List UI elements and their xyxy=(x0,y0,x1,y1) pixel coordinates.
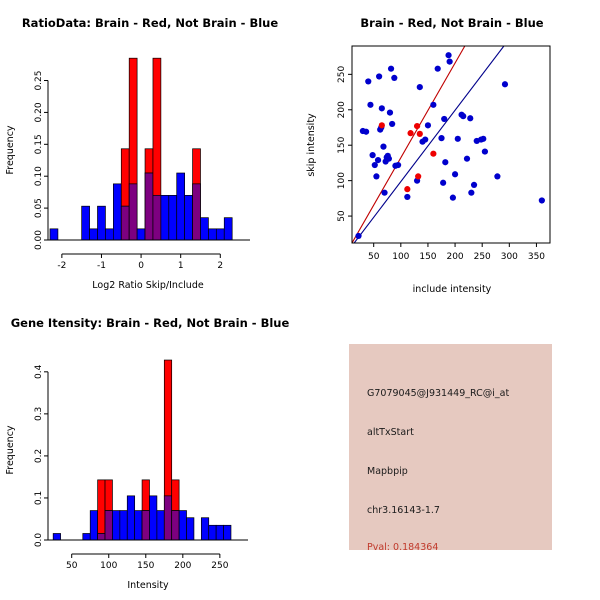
histogram-bar-blue xyxy=(105,229,113,240)
y-axis-tick-label: 0.2 xyxy=(34,449,44,463)
scatter-point-blue xyxy=(502,81,508,87)
histogram-bar-overlap xyxy=(121,206,129,240)
gene-intensity-histogram-svg: Gene Itensity: Brain - Red, Not Brain - … xyxy=(0,300,300,600)
scatter-point-blue xyxy=(404,194,410,200)
histogram-bar-blue xyxy=(209,525,216,540)
histogram-bar-blue xyxy=(224,525,231,540)
histogram-bar-overlap xyxy=(164,496,171,540)
x-axis-tick-label: 250 xyxy=(474,252,491,262)
scatter-point-blue xyxy=(460,113,466,119)
scatter-point-red xyxy=(414,123,420,129)
x-axis-tick-label: -1 xyxy=(97,261,106,271)
scatter-point-blue xyxy=(467,115,473,121)
histogram-bar-red xyxy=(105,480,112,511)
ratio-histogram-title: RatioData: Brain - Red, Not Brain - Blue xyxy=(22,16,279,30)
gene-intensity-histogram-panel: Gene Itensity: Brain - Red, Not Brain - … xyxy=(0,300,300,600)
histogram-bar-red xyxy=(172,480,179,511)
intensity-scatter-ylabel: skip intensity xyxy=(306,113,317,177)
y-axis-tick-label: 0.25 xyxy=(34,70,44,90)
scatter-point-blue xyxy=(376,73,382,79)
scatter-point-blue xyxy=(370,152,376,158)
scatter-point-blue xyxy=(435,66,441,72)
scatter-point-blue xyxy=(464,156,470,162)
y-axis-tick-label: 50 xyxy=(337,210,347,222)
gene-intensity-histogram-bars xyxy=(53,360,231,540)
y-axis-tick-label: 0.05 xyxy=(34,198,44,218)
intensity-scatter-panel: Brain - Red, Not Brain - Blue include in… xyxy=(300,0,600,300)
intensity-scatter-plot-area xyxy=(352,46,545,243)
scatter-point-blue xyxy=(440,180,446,186)
x-axis-tick-label: 150 xyxy=(137,561,154,571)
histogram-bar-blue xyxy=(53,533,60,540)
x-axis-tick-label: 200 xyxy=(174,561,191,571)
histogram-bar-overlap xyxy=(145,173,153,240)
scatter-point-blue xyxy=(425,122,431,128)
ratio-histogram-ylabel: Frequency xyxy=(5,125,16,174)
scatter-point-blue xyxy=(391,75,397,81)
histogram-bar-blue xyxy=(127,496,134,540)
histogram-bar-blue xyxy=(161,195,169,240)
y-axis-tick-label: 0.00 xyxy=(34,230,44,250)
scatter-point-blue xyxy=(375,157,381,163)
pvalue-text: Pval: 0.184364 xyxy=(367,542,438,553)
scatter-point-blue xyxy=(379,105,385,111)
histogram-bar-blue xyxy=(177,173,185,240)
scatter-point-blue xyxy=(468,190,474,196)
histogram-bar-overlap xyxy=(142,511,149,540)
histogram-bar-blue xyxy=(112,511,119,540)
x-axis-tick-label: 150 xyxy=(419,252,436,262)
histogram-bar-red xyxy=(193,149,201,184)
regression-line-brain-fit xyxy=(352,46,465,243)
scatter-point-blue xyxy=(482,148,488,154)
histogram-bar-red xyxy=(121,149,129,206)
histogram-bar-blue xyxy=(50,229,58,240)
y-axis-tick-label: 250 xyxy=(337,65,347,82)
gene-symbol-text: Mapbpip xyxy=(367,466,408,477)
y-axis-tick-label: 0.15 xyxy=(34,134,44,154)
histogram-bar-blue xyxy=(149,496,156,540)
scatter-point-blue xyxy=(452,171,458,177)
scatter-point-blue xyxy=(373,173,379,179)
histogram-bar-blue xyxy=(90,229,98,240)
scatter-point-blue xyxy=(450,195,456,201)
scatter-point-red xyxy=(379,122,385,128)
y-axis-tick-label: 150 xyxy=(337,136,347,153)
scatter-point-blue xyxy=(365,78,371,84)
scatter-point-red xyxy=(407,130,413,136)
histogram-bar-blue xyxy=(179,511,186,540)
gene-intensity-histogram-title: Gene Itensity: Brain - Red, Not Brain - … xyxy=(11,316,290,330)
intensity-scatter-xlabel: include intensity xyxy=(413,284,492,295)
histogram-bar-overlap xyxy=(193,184,201,240)
scatter-point-red xyxy=(430,151,436,157)
gene-intensity-histogram-ylabel: Frequency xyxy=(5,425,16,474)
histogram-bar-blue xyxy=(135,511,142,540)
scatter-point-blue xyxy=(386,156,392,162)
histogram-bar-overlap xyxy=(153,195,161,240)
scatter-point-blue xyxy=(387,110,393,116)
gene-intensity-histogram-xlabel: Intensity xyxy=(127,580,169,591)
histogram-bar-blue xyxy=(224,218,232,240)
histogram-bar-red xyxy=(98,480,105,534)
scatter-point-red xyxy=(415,173,421,179)
ratio-histogram-bars xyxy=(50,58,232,240)
scatter-point-blue xyxy=(422,136,428,142)
ratio-histogram-xlabel: Log2 Ratio Skip/Include xyxy=(92,280,204,291)
y-axis-tick-label: 0.20 xyxy=(34,102,44,122)
gene-info-card: G7079045@J931449_RC@i_at altTxStart Mapb… xyxy=(349,344,552,550)
gene-info-panel: G7079045@J931449_RC@i_at altTxStart Mapb… xyxy=(300,300,600,600)
scatter-point-blue xyxy=(480,136,486,142)
scatter-point-blue xyxy=(395,162,401,168)
scatter-point-blue xyxy=(389,121,395,127)
histogram-bar-overlap xyxy=(129,184,137,240)
scatter-point-blue xyxy=(438,135,444,141)
scatter-point-blue xyxy=(441,116,447,122)
x-axis-tick-label: 300 xyxy=(501,252,518,262)
scatter-point-blue xyxy=(417,84,423,90)
scatter-point-blue xyxy=(442,159,448,165)
x-axis-tick-label: 50 xyxy=(66,561,78,571)
x-axis-tick-label: 100 xyxy=(392,252,409,262)
x-axis-tick-label: -2 xyxy=(57,261,66,271)
x-axis-tick-label: 200 xyxy=(446,252,463,262)
histogram-bar-blue xyxy=(201,518,208,540)
y-axis-tick-label: 0.0 xyxy=(34,533,44,548)
histogram-bar-blue xyxy=(187,518,194,540)
ratio-histogram-panel: RatioData: Brain - Red, Not Brain - Blue… xyxy=(0,0,300,300)
scatter-inner xyxy=(352,46,545,243)
x-axis-tick-label: 250 xyxy=(211,561,228,571)
histogram-bar-blue xyxy=(98,206,106,240)
histogram-bar-blue xyxy=(208,229,216,240)
histogram-bar-blue xyxy=(83,533,90,540)
histogram-bar-overlap xyxy=(172,511,179,540)
ratio-histogram-svg: RatioData: Brain - Red, Not Brain - Blue… xyxy=(0,0,300,300)
histogram-bar-blue xyxy=(169,195,177,240)
histogram-bar-red xyxy=(153,58,161,195)
histogram-bar-blue xyxy=(185,195,193,240)
scatter-point-blue xyxy=(367,102,373,108)
histogram-bar-blue xyxy=(113,184,121,240)
scatter-point-blue xyxy=(455,136,461,142)
y-axis-tick-label: 100 xyxy=(337,172,347,189)
scatter-point-blue xyxy=(445,52,451,58)
scatter-point-blue xyxy=(539,197,545,203)
scatter-point-blue xyxy=(471,182,477,188)
scatter-point-blue xyxy=(430,102,436,108)
scatter-point-blue xyxy=(388,66,394,72)
histogram-bar-blue xyxy=(157,511,164,540)
histogram-bar-blue xyxy=(120,511,127,540)
histogram-bar-blue xyxy=(82,206,90,240)
histogram-bar-red xyxy=(142,480,149,511)
scatter-point-red xyxy=(404,186,410,192)
histogram-bar-overlap xyxy=(98,533,105,540)
locus-text: chr3.16143-1.7 xyxy=(367,505,440,516)
y-axis-tick-label: 0.1 xyxy=(34,491,44,505)
y-axis-tick-label: 0.4 xyxy=(34,364,44,379)
histogram-bar-overlap xyxy=(105,511,112,540)
intensity-scatter-title: Brain - Red, Not Brain - Blue xyxy=(360,16,543,30)
x-axis-tick-label: 50 xyxy=(368,252,380,262)
histogram-bar-blue xyxy=(216,229,224,240)
probe-id-text: G7079045@J931449_RC@i_at xyxy=(367,388,509,399)
event-type-text: altTxStart xyxy=(367,427,414,438)
histogram-bar-red xyxy=(164,360,171,496)
histogram-bar-blue xyxy=(216,525,223,540)
x-axis-tick-label: 0 xyxy=(138,261,144,271)
x-axis-tick-label: 350 xyxy=(528,252,545,262)
scatter-point-blue xyxy=(494,173,500,179)
gene-intensity-histogram-axes: 0.00.10.20.30.450100150200250 xyxy=(34,364,248,571)
scatter-point-blue xyxy=(355,233,361,239)
histogram-bar-blue xyxy=(137,229,145,240)
scatter-point-blue xyxy=(447,58,453,64)
x-axis-tick-label: 100 xyxy=(100,561,117,571)
histogram-bar-red xyxy=(129,58,137,184)
histogram-bar-red xyxy=(145,149,153,173)
scatter-point-red xyxy=(417,131,423,137)
x-axis-tick-label: 2 xyxy=(217,261,223,271)
intensity-scatter-axes: 5010015020025050100150200250300350 xyxy=(337,46,550,262)
y-axis-tick-label: 0.3 xyxy=(34,407,44,421)
scatter-point-blue xyxy=(381,190,387,196)
histogram-bar-blue xyxy=(200,218,208,240)
ratio-histogram-axes: 0.000.050.100.150.200.25-2-1012 xyxy=(34,70,250,271)
histogram-bar-blue xyxy=(90,511,97,540)
scatter-point-blue xyxy=(363,129,369,135)
y-axis-tick-label: 200 xyxy=(337,101,347,118)
intensity-scatter-svg: Brain - Red, Not Brain - Blue include in… xyxy=(300,0,600,300)
x-axis-tick-label: 1 xyxy=(178,261,184,271)
y-axis-tick-label: 0.10 xyxy=(34,166,44,186)
scatter-point-blue xyxy=(380,144,386,150)
